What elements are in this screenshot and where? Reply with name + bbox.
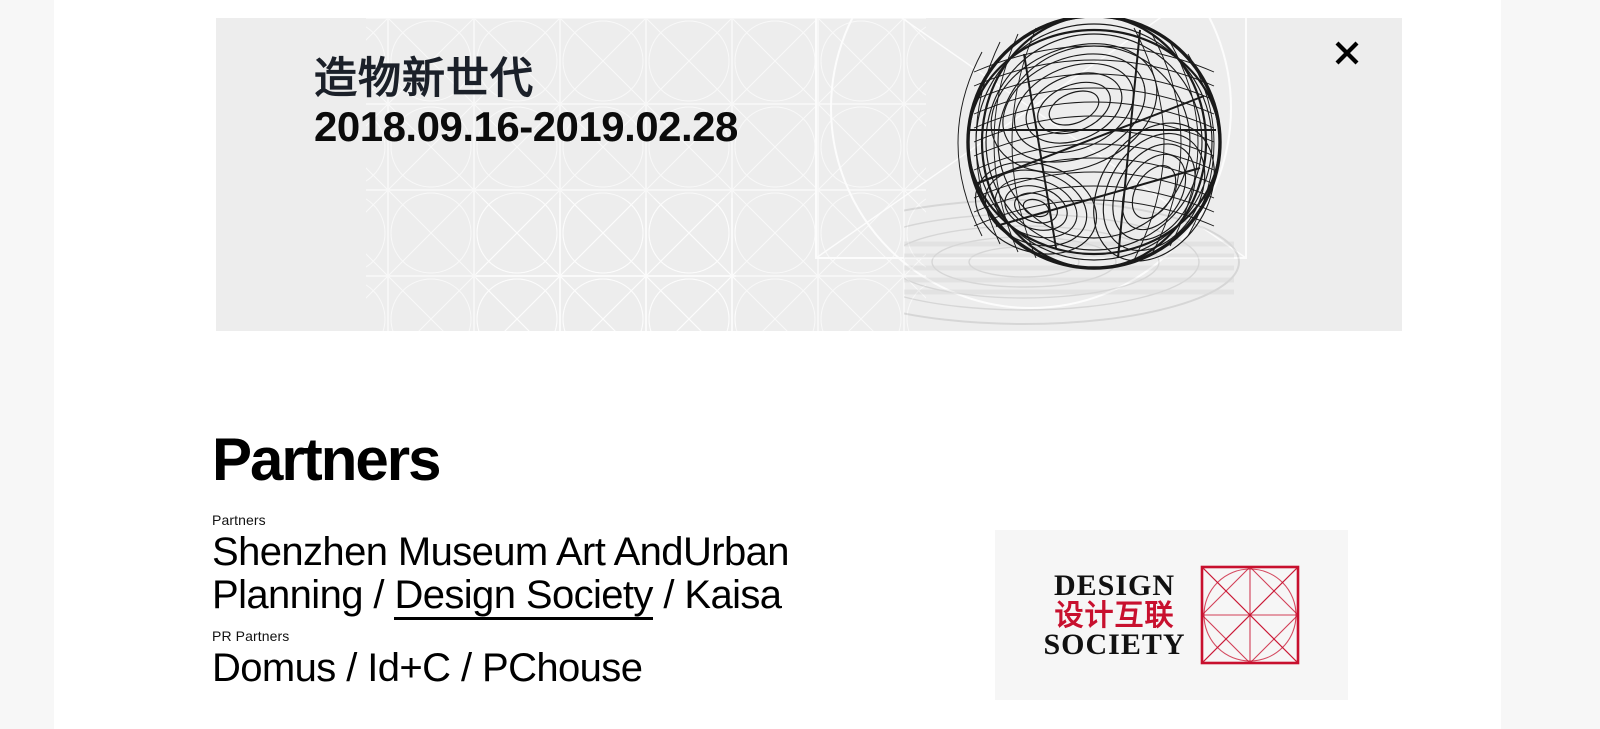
content-area: 造物新世代 2018.09.16-2019.02.28 Partners Par… <box>54 0 1501 729</box>
banner-close-button[interactable] <box>1324 30 1370 76</box>
banner-title-chinese: 造物新世代 <box>314 56 738 102</box>
design-society-logo: DESIGN 设计互联 SOCIETY <box>1043 565 1299 665</box>
partner-group-value: Shenzhen Museum Art AndUrban Planning / … <box>212 531 924 617</box>
page-title: Partners <box>212 430 1412 490</box>
design-society-mark-icon <box>1200 565 1300 665</box>
design-society-link[interactable]: Design Society <box>394 573 652 620</box>
logo-text-design: DESIGN <box>1054 571 1175 600</box>
banner-date-range: 2018.09.16-2019.02.28 <box>314 104 738 149</box>
partner-logo-panel[interactable]: DESIGN 设计互联 SOCIETY <box>995 530 1348 700</box>
pr-partner-group-value: Domus / Id+C / PChouse <box>212 647 924 690</box>
partner-value-suffix: / Kaisa <box>653 573 782 617</box>
banner-copy: 造物新世代 2018.09.16-2019.02.28 <box>314 56 738 150</box>
logo-text-chinese: 设计互联 <box>1054 601 1174 629</box>
logo-text-society: SOCIETY <box>1043 630 1185 659</box>
promo-banner[interactable]: 造物新世代 2018.09.16-2019.02.28 <box>216 18 1402 331</box>
wireframe-sculpture-artwork <box>904 18 1364 331</box>
close-icon <box>1334 40 1360 66</box>
page-root: 造物新世代 2018.09.16-2019.02.28 Partners Par… <box>0 0 1600 729</box>
partner-group-label: Partners <box>212 513 1412 528</box>
logo-wordmark: DESIGN 设计互联 SOCIETY <box>1043 571 1185 659</box>
